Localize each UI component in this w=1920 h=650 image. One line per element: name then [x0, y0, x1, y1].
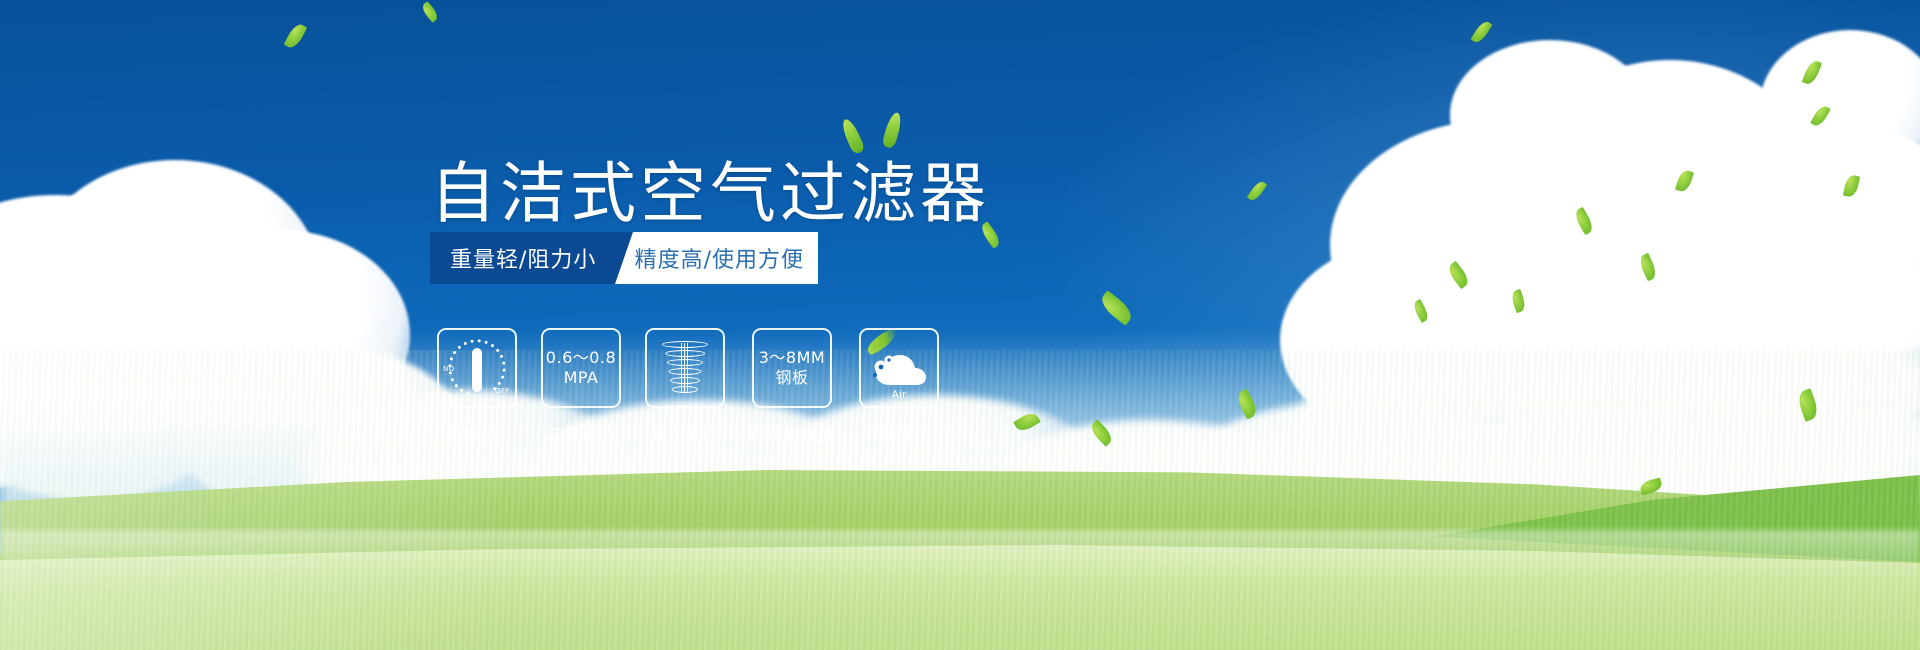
hero-banner: 自洁式空气过滤器 重量轻/阻力小 精度高/使用方便: [0, 0, 1920, 650]
cloud-glyph: [869, 353, 929, 387]
feature-item-pressure[interactable]: 0.6～0.8 MPA 二级过滤: [541, 328, 621, 445]
feature-label: 控制仪: [451, 420, 504, 445]
feature-icon-box: [645, 328, 725, 408]
air-cloud-icon: Air: [869, 345, 929, 391]
gauge-icon: NO OFF: [445, 340, 509, 396]
feature-icon-box: 0.6～0.8 MPA: [541, 328, 621, 408]
steel-plate-icon: 3～8MM 钢板: [759, 348, 825, 388]
banner-content: 自洁式空气过滤器 重量轻/阻力小 精度高/使用方便: [0, 0, 1920, 650]
leaf-beam-icon: [864, 328, 900, 356]
coil-icon: [659, 339, 711, 397]
gauge-on-label: NO: [443, 365, 455, 373]
feature-icon-box: NO OFF: [437, 328, 517, 408]
page-title: 自洁式空气过滤器: [430, 140, 990, 236]
feature-label: 二级过滤: [546, 420, 616, 445]
gauge-off-label: OFF: [495, 387, 510, 395]
subtitle-tabs: 重量轻/阻力小 精度高/使用方便: [430, 232, 820, 284]
pressure-icon: 0.6～0.8 MPA: [546, 348, 616, 388]
feature-label: 强力反吹: [650, 420, 720, 445]
feature-label: 集尘: [882, 420, 917, 445]
feature-icon-box: Air: [859, 328, 939, 408]
tab-weight-resistance[interactable]: 重量轻/阻力小: [430, 232, 645, 284]
tab-precision-convenience[interactable]: 精度高/使用方便: [615, 232, 818, 284]
feature-label: 钢结构强度: [748, 420, 836, 445]
feature-list: NO OFF 控制仪 0.6～0.8 MPA 二级过滤: [437, 328, 939, 445]
air-label: Air: [869, 389, 929, 401]
feature-item-steel-plate[interactable]: 3～8MM 钢板 钢结构强度: [749, 328, 835, 445]
feature-item-backblow[interactable]: 强力反吹: [645, 328, 725, 445]
gauge-needle: [472, 348, 482, 392]
feature-icon-box: 3～8MM 钢板: [752, 328, 832, 408]
feature-item-control-gauge[interactable]: NO OFF 控制仪: [437, 328, 517, 445]
feature-item-dust-collection[interactable]: Air 集尘: [859, 328, 939, 445]
